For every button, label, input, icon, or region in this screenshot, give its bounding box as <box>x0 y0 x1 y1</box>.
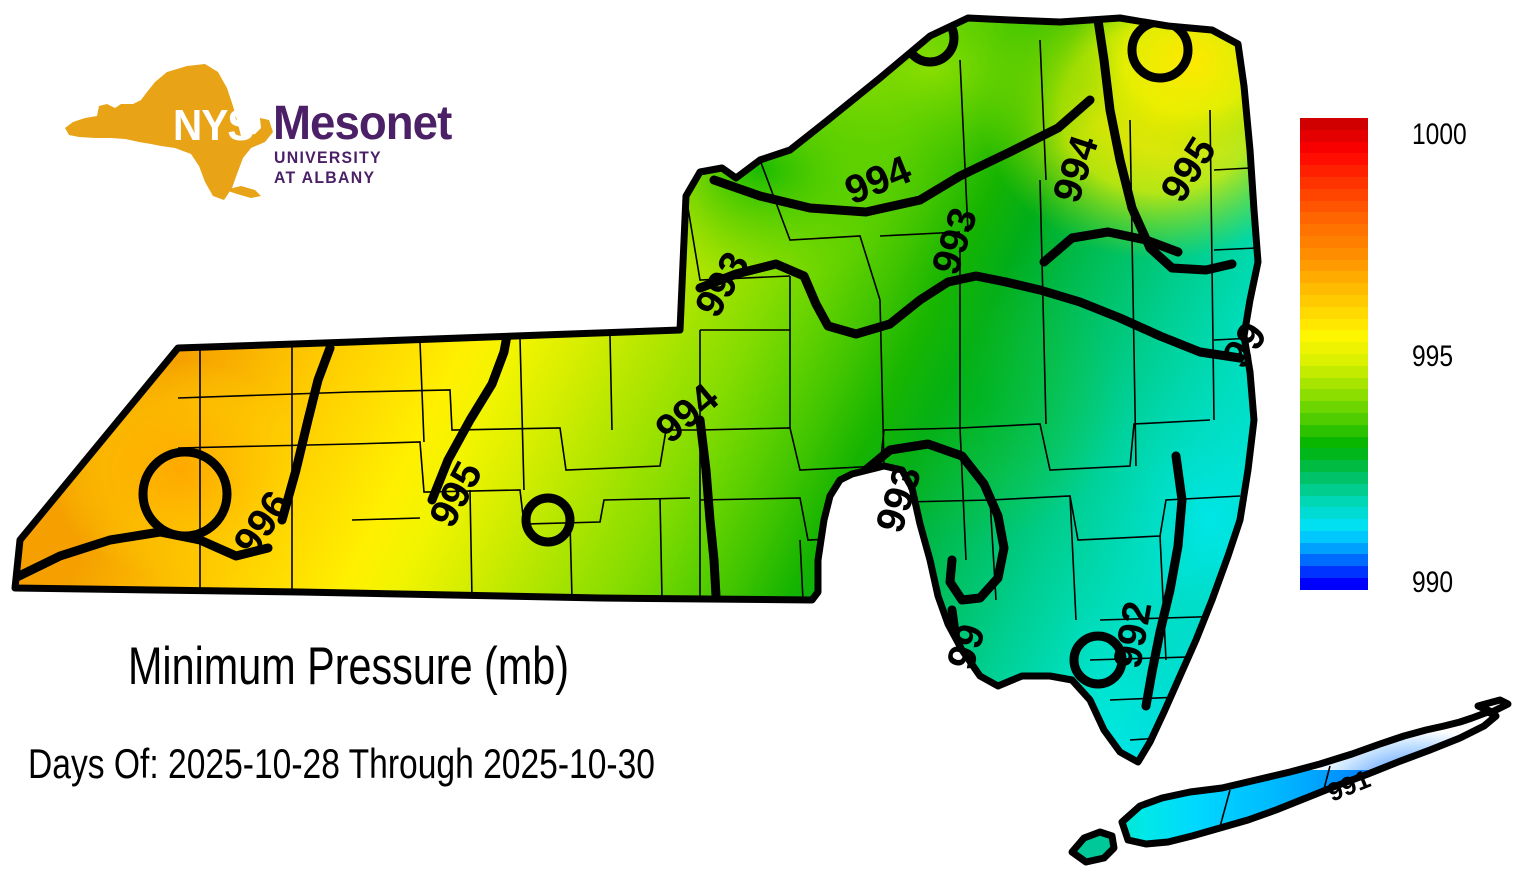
colorbar-band <box>1300 413 1368 425</box>
colorbar-band <box>1300 543 1368 555</box>
colorbar-band <box>1300 401 1368 413</box>
colorbar-band <box>1300 307 1368 319</box>
colorbar-band <box>1300 260 1368 272</box>
colorbar-band <box>1300 425 1368 437</box>
colorbar-band <box>1300 142 1368 154</box>
colorbar-band <box>1300 330 1368 342</box>
colorbar-band <box>1300 283 1368 295</box>
colorbar-band <box>1300 354 1368 366</box>
colorbar-band <box>1300 177 1368 189</box>
colorbar-band <box>1300 295 1368 307</box>
colorbar-band <box>1300 224 1368 236</box>
colorbar-min-label: 990 <box>1412 566 1453 600</box>
page-title: Minimum Pressure (mb) <box>128 636 569 697</box>
colorbar-band <box>1300 519 1368 531</box>
colorbar-band <box>1300 130 1368 142</box>
colorbar-band <box>1300 496 1368 508</box>
colorbar-band <box>1300 212 1368 224</box>
colorbar-band <box>1300 271 1368 283</box>
colorbar-band <box>1300 118 1368 130</box>
colorbar-band <box>1300 165 1368 177</box>
colorbar-mid-label: 995 <box>1412 340 1453 374</box>
colorbar-band <box>1300 472 1368 484</box>
colorbar-band <box>1300 319 1368 331</box>
pressure-map-page: NYS Mesonet UNIVERSITY AT ALBANY <box>0 0 1536 876</box>
colorbar-band <box>1300 189 1368 201</box>
colorbar-band <box>1300 201 1368 213</box>
colorbar-band <box>1300 248 1368 260</box>
colorbar-band <box>1300 566 1368 578</box>
colorbar-band <box>1300 236 1368 248</box>
colorbar <box>1300 118 1368 590</box>
colorbar-band <box>1300 378 1368 390</box>
colorbar-band <box>1300 578 1368 590</box>
colorbar-band <box>1300 531 1368 543</box>
colorbar-band <box>1300 460 1368 472</box>
colorbar-band <box>1300 153 1368 165</box>
colorbar-band <box>1300 342 1368 354</box>
colorbar-band <box>1300 484 1368 496</box>
page-subtitle: Days Of: 2025-10-28 Through 2025-10-30 <box>28 740 655 788</box>
colorbar-band <box>1300 437 1368 449</box>
colorbar-max-label: 1000 <box>1412 118 1467 152</box>
colorbar-band <box>1300 366 1368 378</box>
colorbar-band <box>1300 389 1368 401</box>
pressure-fill-long-island <box>1100 730 1536 876</box>
colorbar-band <box>1300 554 1368 566</box>
colorbar-band <box>1300 448 1368 460</box>
colorbar-band <box>1300 507 1368 519</box>
